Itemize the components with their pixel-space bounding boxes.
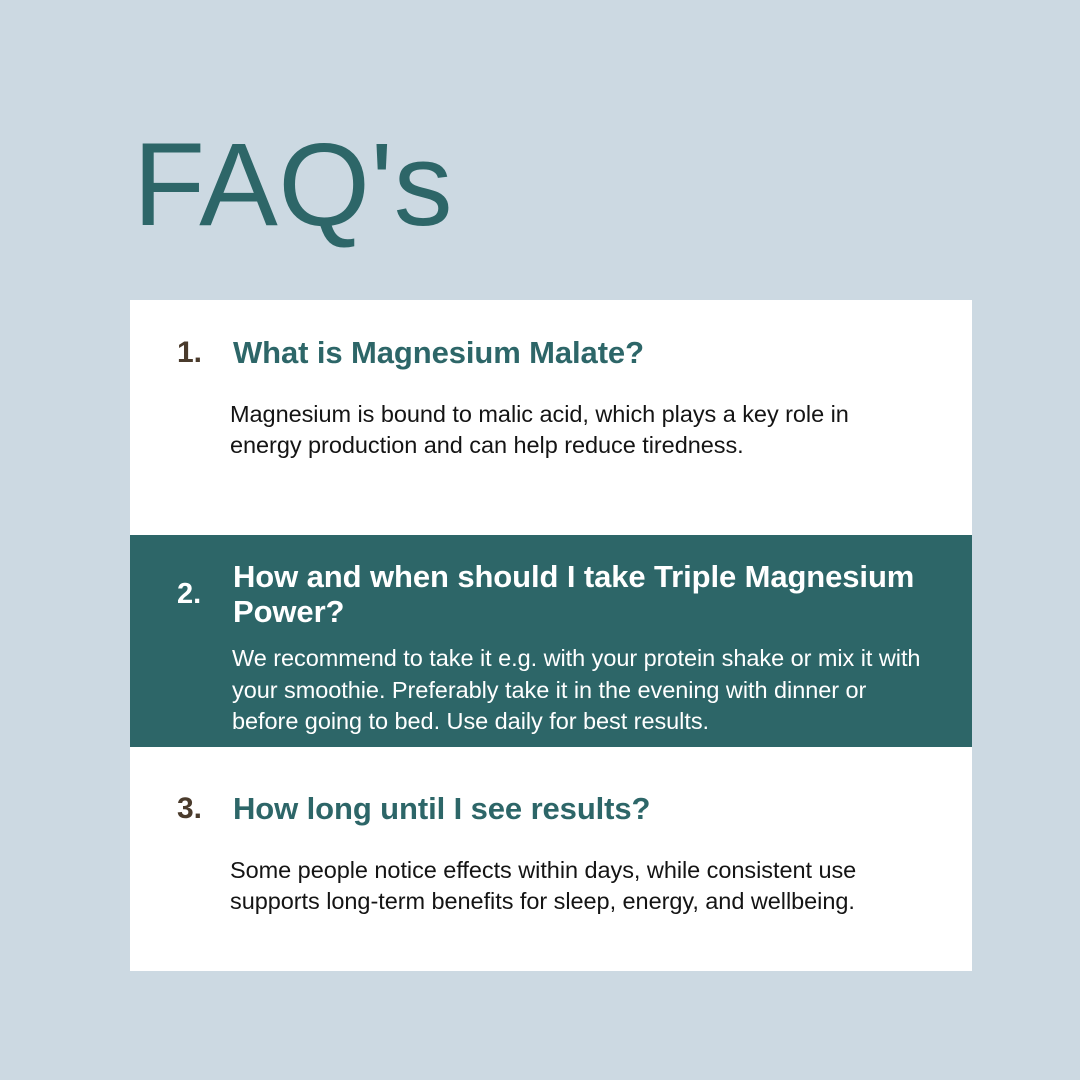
faq-item-2[interactable]: 2. How and when should I take Triple Mag… <box>130 535 972 747</box>
faq-item-1-answer: Magnesium is bound to malic acid, which … <box>230 399 902 462</box>
faq-item-3-number: 3. <box>177 792 233 827</box>
faq-item-1-header: 1. What is Magnesium Malate? <box>130 336 972 371</box>
faq-item-3[interactable]: 3. How long until I see results? Some pe… <box>130 747 972 971</box>
faq-item-3-answer: Some people notice effects within days, … <box>230 855 906 918</box>
faq-item-2-question: How and when should I take Triple Magnes… <box>233 560 932 629</box>
faq-item-1-question: What is Magnesium Malate? <box>233 336 932 371</box>
faq-item-1-number: 1. <box>177 336 233 371</box>
faq-item-1[interactable]: 1. What is Magnesium Malate? Magnesium i… <box>130 300 972 535</box>
faq-item-2-answer: We recommend to take it e.g. with your p… <box>232 643 930 737</box>
faq-item-3-header: 3. How long until I see results? <box>130 792 972 827</box>
page-title: FAQ's <box>133 126 453 244</box>
faq-item-2-header: 2. How and when should I take Triple Mag… <box>130 560 972 629</box>
faq-item-2-number: 2. <box>177 578 233 611</box>
faq-card: 1. What is Magnesium Malate? Magnesium i… <box>130 300 972 971</box>
faq-page: FAQ's 1. What is Magnesium Malate? Magne… <box>0 0 1080 1080</box>
faq-item-3-question: How long until I see results? <box>233 792 932 827</box>
